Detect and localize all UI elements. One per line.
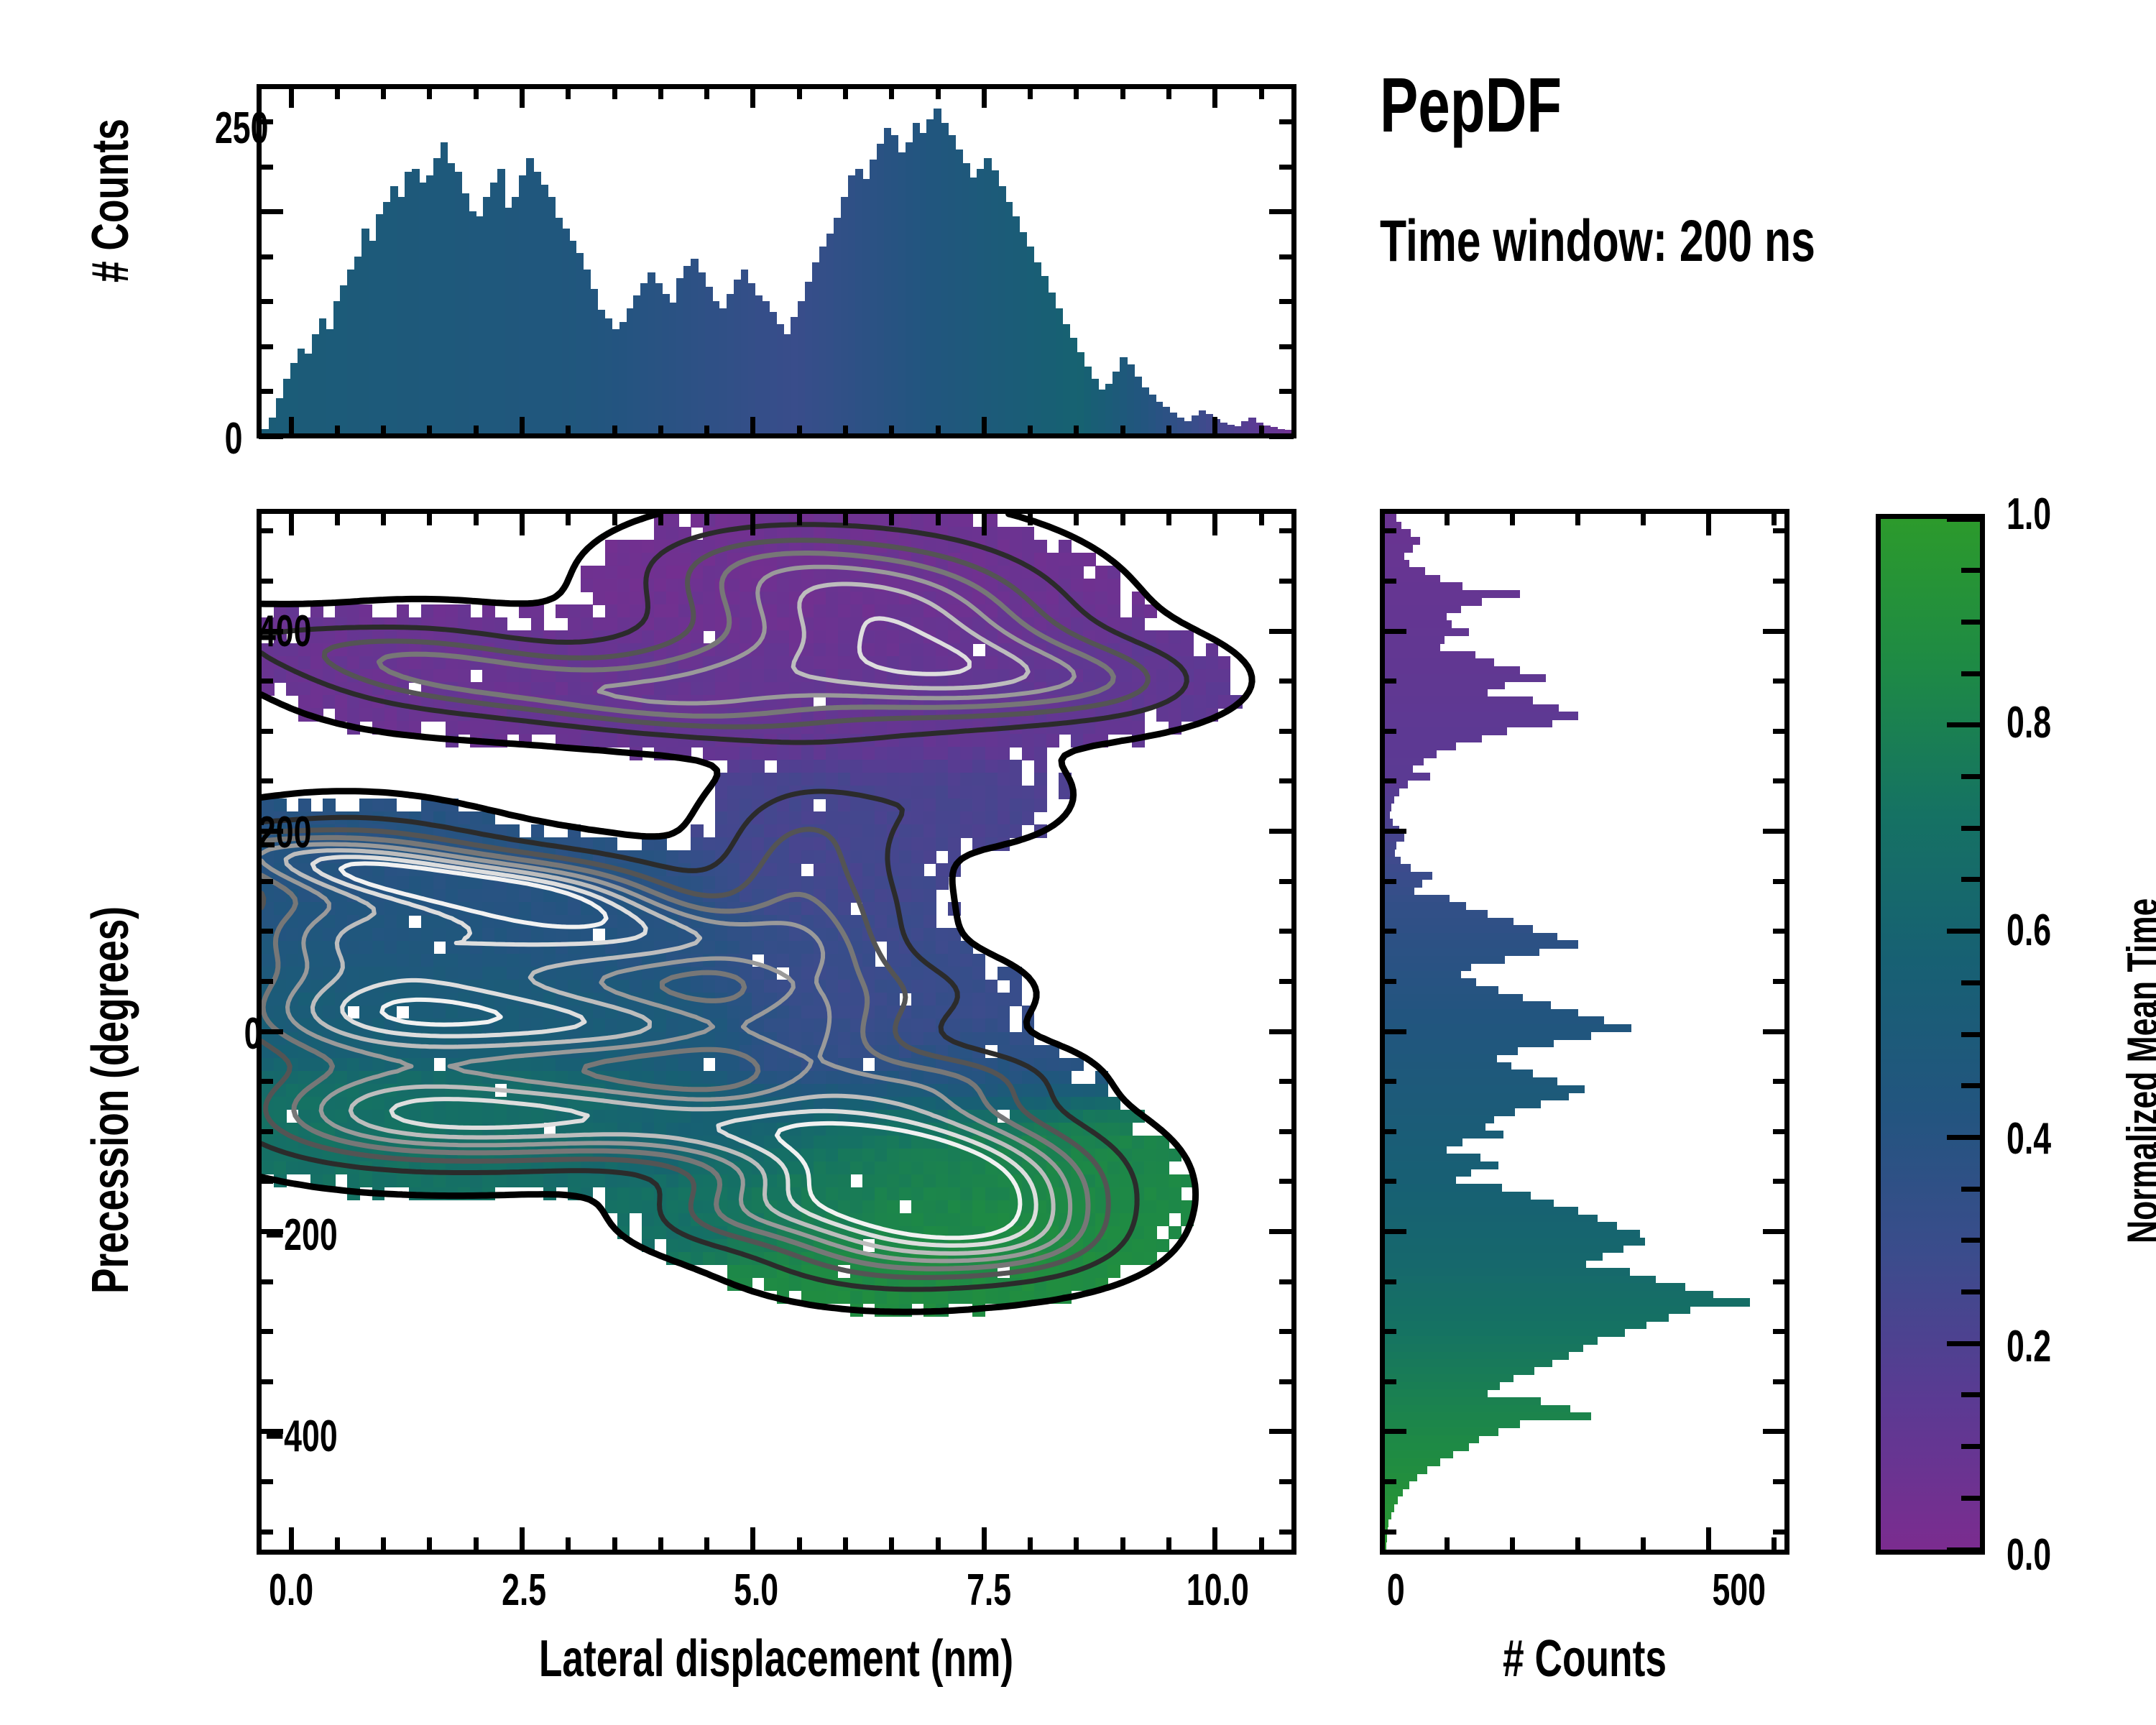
tick-mark — [658, 425, 663, 438]
tick-mark — [427, 1537, 432, 1552]
tick-mark — [1773, 879, 1787, 884]
tick-mark — [1382, 1079, 1396, 1084]
tick-mark — [1382, 729, 1396, 734]
top-histogram-bar — [305, 354, 313, 433]
tick-mark — [1279, 1379, 1294, 1384]
tick-mark — [1382, 629, 1406, 634]
colorbar-tick — [1961, 774, 1980, 779]
right-marginal-bars — [1385, 514, 1784, 1550]
right-histogram-bar — [1385, 1215, 1598, 1223]
right-histogram-bar — [1385, 1238, 1645, 1246]
tick-mark — [1212, 417, 1217, 438]
right-histogram-bar — [1385, 674, 1546, 682]
right-histogram-bar — [1385, 902, 1466, 910]
right-histogram-bar — [1385, 689, 1488, 697]
right-histogram-bar — [1385, 1405, 1570, 1413]
tick-mark — [1120, 1537, 1125, 1552]
right-histogram-bar — [1385, 857, 1401, 865]
right-xtick-label-500: 500 — [1712, 1568, 1765, 1613]
tick-mark — [750, 417, 755, 438]
colorbar-tick — [1961, 1083, 1980, 1088]
top-histogram-bar — [948, 135, 956, 433]
tick-mark — [1382, 1129, 1396, 1134]
tick-mark — [982, 1527, 987, 1552]
tick-mark — [843, 1537, 848, 1552]
top-histogram-bar — [340, 285, 348, 433]
main-xtick-label-4: 10.0 — [1187, 1568, 1249, 1613]
tick-mark — [797, 86, 802, 99]
right-histogram-bar — [1385, 658, 1494, 666]
tick-mark — [1259, 1537, 1264, 1552]
right-histogram-bar — [1385, 796, 1394, 804]
tick-mark — [381, 86, 386, 99]
right-histogram-bar — [1385, 1512, 1391, 1519]
right-histogram-bar — [1385, 1504, 1394, 1512]
right-histogram-bar — [1385, 1535, 1387, 1542]
top-histogram-bar — [319, 318, 327, 433]
tick-mark — [1259, 511, 1264, 525]
top-histogram-bar — [419, 183, 427, 433]
top-histogram-bar — [683, 266, 691, 433]
tick-mark — [1382, 1029, 1406, 1034]
right-marginal-panel — [1380, 509, 1789, 1555]
right-histogram-bar — [1385, 1443, 1469, 1451]
tick-mark — [1212, 86, 1217, 108]
right-histogram-bar — [1385, 1062, 1511, 1070]
top-histogram-bar — [819, 247, 827, 433]
right-histogram-bar — [1385, 1489, 1403, 1496]
tick-mark — [259, 119, 273, 124]
tick-mark — [474, 511, 479, 525]
top-marginal-bars — [262, 89, 1291, 433]
top-histogram-bar — [848, 175, 856, 433]
colorbar-tick-label-5: 1.0 — [2007, 492, 2051, 537]
top-histogram-bar — [526, 158, 534, 433]
right-histogram-bar — [1385, 1458, 1440, 1466]
tick-mark — [520, 1527, 525, 1552]
top-histogram-bar — [763, 301, 770, 433]
right-histogram-bar — [1385, 1161, 1498, 1169]
tick-mark — [1279, 1479, 1294, 1484]
top-histogram-bar — [934, 109, 941, 433]
top-histogram-bar — [533, 172, 541, 433]
right-histogram-bar — [1385, 1230, 1640, 1238]
top-histogram-bar — [826, 234, 834, 433]
top-histogram-bar — [1105, 384, 1113, 433]
top-histogram-bar — [734, 280, 742, 433]
colorbar-tick — [1961, 1392, 1980, 1397]
top-histogram-bar — [405, 172, 413, 433]
tick-mark — [289, 511, 294, 535]
tick-mark — [1763, 1029, 1787, 1034]
top-histogram-bar — [705, 287, 713, 433]
colorbar-tick-label-1: 0.2 — [2007, 1325, 2051, 1369]
tick-mark — [1773, 1279, 1787, 1284]
right-histogram-bar — [1385, 811, 1390, 819]
top-histogram-bar — [1148, 395, 1156, 433]
colorbar-tick — [1961, 1289, 1980, 1294]
top-histogram-bar — [1049, 293, 1056, 434]
right-histogram-bar — [1385, 834, 1404, 842]
right-histogram-bar — [1385, 1389, 1488, 1397]
top-histogram-bar — [805, 282, 813, 433]
tick-mark — [1074, 511, 1079, 525]
tick-mark — [289, 1527, 294, 1552]
top-histogram-bar — [1020, 232, 1028, 433]
tick-mark — [1259, 86, 1264, 99]
right-histogram-bar — [1385, 1009, 1578, 1017]
tick-mark — [750, 1527, 755, 1552]
tick-mark — [1773, 729, 1787, 734]
tick-mark — [982, 511, 987, 535]
top-histogram-bar — [891, 135, 899, 433]
top-histogram-bar — [691, 259, 699, 433]
colorbar-tick — [1961, 620, 1980, 625]
main-ytick-label-neg400: −400 — [265, 1414, 338, 1459]
tick-mark — [1773, 929, 1787, 934]
tick-mark — [1279, 579, 1294, 584]
top-histogram-bar — [770, 312, 778, 433]
right-histogram-bar — [1385, 750, 1437, 758]
right-histogram-bar — [1385, 864, 1411, 872]
right-histogram-bar — [1385, 1276, 1656, 1284]
top-histogram-bar — [598, 310, 606, 433]
top-histogram-bar — [347, 270, 355, 433]
tick-mark — [474, 1537, 479, 1552]
tick-mark — [843, 86, 848, 99]
tick-mark — [1269, 434, 1294, 439]
right-histogram-bar — [1385, 925, 1533, 933]
top-histogram-bar — [1263, 425, 1271, 433]
tick-mark — [381, 511, 386, 525]
tick-mark — [259, 729, 273, 734]
right-histogram-bar — [1385, 1169, 1471, 1177]
main-xlabel: Lateral displacement (nm) — [539, 1633, 1013, 1685]
right-histogram-bar — [1385, 758, 1424, 765]
tick-mark — [1120, 86, 1125, 99]
right-histogram-bar — [1385, 1192, 1531, 1200]
right-histogram-bar — [1385, 1154, 1480, 1161]
tick-mark — [427, 511, 432, 525]
tick-mark — [1028, 1537, 1033, 1552]
right-histogram-bar — [1385, 1268, 1630, 1276]
top-histogram-bar — [655, 283, 663, 433]
top-histogram-bar — [512, 197, 520, 433]
top-histogram-bar — [497, 169, 505, 433]
top-histogram-bar — [1120, 357, 1128, 433]
tick-mark — [1279, 1329, 1294, 1334]
top-histogram-bar — [383, 202, 391, 433]
right-histogram-bar — [1385, 1321, 1646, 1329]
right-histogram-bar — [1385, 567, 1425, 575]
tick-mark — [750, 86, 755, 108]
tick-mark — [1279, 119, 1294, 124]
right-histogram-bar — [1385, 1146, 1447, 1154]
tick-mark — [1279, 165, 1294, 170]
tick-mark — [1773, 778, 1787, 783]
right-histogram-bar — [1385, 956, 1505, 964]
tick-mark — [1641, 511, 1646, 525]
tick-mark — [889, 511, 894, 525]
tick-mark — [1772, 511, 1777, 525]
tick-mark — [1074, 425, 1079, 438]
tick-mark — [797, 425, 802, 438]
tick-mark — [1279, 389, 1294, 394]
top-histogram-bar — [1177, 418, 1185, 433]
right-histogram-bar — [1385, 620, 1452, 628]
tick-mark — [1382, 1329, 1396, 1334]
top-histogram-bar — [783, 334, 791, 433]
tick-mark — [1773, 1079, 1787, 1084]
top-histogram-bar — [490, 183, 498, 433]
tick-mark — [381, 425, 386, 438]
colorbar-label: Normalized Mean Time — [2122, 898, 2156, 1243]
tick-mark — [1445, 1537, 1450, 1552]
tick-mark — [1028, 425, 1033, 438]
colorbar-tick — [1961, 568, 1980, 573]
tick-mark — [1279, 1129, 1294, 1134]
colorbar-tick — [1947, 1547, 1980, 1552]
right-histogram-bar — [1385, 1260, 1586, 1268]
tick-mark — [1641, 1537, 1646, 1552]
top-histogram-bar — [1284, 430, 1291, 433]
right-histogram-bar — [1385, 1115, 1494, 1123]
tick-mark — [1382, 778, 1396, 783]
top-histogram-bar — [1184, 421, 1192, 433]
top-histogram-bar — [1063, 324, 1071, 433]
top-histogram-bar — [920, 133, 928, 433]
tick-mark — [1269, 1229, 1294, 1234]
right-histogram-bar — [1385, 552, 1404, 560]
tick-mark — [1773, 678, 1787, 684]
tick-mark — [936, 511, 941, 525]
right-histogram-bar — [1385, 1291, 1713, 1299]
top-histogram-bar — [412, 169, 420, 433]
tick-mark — [1706, 511, 1711, 535]
colorbar-tick — [1947, 1135, 1980, 1140]
figure-root: # Counts 250 0 PepDF Time window: 200 ns… — [0, 0, 2156, 1725]
top-histogram-bar — [698, 272, 706, 433]
right-histogram-bar — [1385, 887, 1414, 895]
right-histogram-bar — [1385, 727, 1507, 735]
right-histogram-bar — [1385, 1032, 1591, 1040]
top-histogram-bar — [1084, 367, 1092, 433]
top-histogram-bar — [612, 329, 620, 433]
colorbar-tick — [1961, 671, 1980, 676]
right-histogram-bar — [1385, 765, 1413, 773]
tick-mark — [1279, 1179, 1294, 1184]
colorbar-tick — [1947, 1341, 1980, 1346]
tick-mark — [1074, 1537, 1079, 1552]
right-histogram-bar — [1385, 651, 1475, 659]
top-histogram-bar — [1270, 427, 1278, 433]
top-histogram-bar — [741, 270, 749, 433]
tick-mark — [704, 1537, 709, 1552]
tick-mark — [1773, 1329, 1787, 1334]
right-histogram-bar — [1385, 918, 1514, 926]
top-histogram-bar — [1199, 410, 1207, 433]
tick-mark — [259, 1479, 273, 1484]
tick-mark — [1382, 1279, 1396, 1284]
tick-mark — [843, 511, 848, 525]
tick-mark — [259, 678, 273, 684]
tick-mark — [1269, 1029, 1294, 1034]
tick-mark — [1773, 1129, 1787, 1134]
tick-mark — [335, 1537, 340, 1552]
right-histogram-bar — [1385, 719, 1552, 727]
tick-mark — [566, 511, 571, 525]
right-histogram-bar — [1385, 1314, 1669, 1322]
tick-mark — [1773, 528, 1787, 533]
tick-mark — [259, 629, 283, 634]
tick-mark — [982, 417, 987, 438]
right-histogram-bar — [1385, 1253, 1603, 1261]
tick-mark — [1279, 299, 1294, 304]
top-histogram-bar — [1134, 377, 1142, 433]
tick-mark — [889, 86, 894, 99]
tick-mark — [1279, 979, 1294, 984]
top-histogram-bar — [884, 128, 892, 433]
right-histogram-bar — [1385, 1420, 1520, 1428]
figure-title: PepDF — [1380, 66, 1562, 144]
tick-mark — [1382, 1229, 1406, 1234]
top-histogram-bar — [476, 216, 484, 433]
top-histogram-bar — [669, 303, 677, 433]
top-histogram-bar — [505, 208, 512, 433]
tick-mark — [566, 425, 571, 438]
tick-mark — [936, 425, 941, 438]
top-histogram-bar — [791, 317, 798, 433]
right-histogram-bar — [1385, 712, 1578, 719]
right-histogram-bar — [1385, 742, 1456, 750]
tick-mark — [381, 1537, 386, 1552]
tick-mark — [1510, 511, 1515, 525]
tick-mark — [259, 1029, 283, 1034]
top-histogram-bar — [834, 218, 842, 433]
right-histogram-bar — [1385, 704, 1559, 712]
right-histogram-bar — [1385, 1016, 1604, 1024]
tick-mark — [612, 511, 617, 525]
tick-mark — [259, 579, 273, 584]
tick-mark — [797, 1537, 802, 1552]
tick-mark — [843, 425, 848, 438]
tick-mark — [259, 165, 273, 170]
main-ytick-label-0: 0 — [244, 1012, 262, 1057]
top-histogram-bar — [676, 278, 684, 433]
right-histogram-bar — [1385, 681, 1505, 689]
tick-mark — [427, 425, 432, 438]
main-ytick-label-neg200: −200 — [265, 1213, 338, 1258]
top-histogram-bar — [361, 229, 369, 433]
colorbar-tick — [1961, 1032, 1980, 1037]
tick-mark — [1074, 86, 1079, 99]
tick-mark — [704, 86, 709, 99]
right-histogram-bar — [1385, 963, 1471, 971]
tick-mark — [1382, 1429, 1406, 1434]
top-histogram-bar — [748, 283, 756, 433]
right-histogram-bar — [1385, 1200, 1554, 1207]
tick-mark — [1510, 1537, 1515, 1552]
tick-mark — [658, 1537, 663, 1552]
tick-mark — [1166, 511, 1171, 525]
top-histogram-bar — [298, 349, 305, 433]
colorbar-tick — [1961, 1444, 1980, 1449]
tick-mark — [259, 528, 273, 533]
right-histogram-bar — [1385, 1344, 1583, 1352]
top-histogram-bar — [448, 163, 456, 433]
tick-mark — [1382, 1179, 1396, 1184]
colorbar-tick-label-4: 0.8 — [2007, 701, 2051, 745]
right-histogram-bar — [1385, 994, 1523, 1002]
top-histogram-bar — [870, 160, 877, 433]
right-histogram-bar — [1385, 910, 1488, 918]
top-histogram-bar — [977, 169, 985, 433]
right-histogram-bar — [1385, 978, 1476, 986]
tick-mark — [1279, 879, 1294, 884]
tick-mark — [1279, 528, 1294, 533]
tick-mark — [474, 425, 479, 438]
top-histogram-bar — [1112, 372, 1120, 433]
right-histogram-bar — [1385, 613, 1447, 621]
tick-mark — [1575, 1537, 1580, 1552]
top-histogram-bar — [862, 179, 870, 433]
right-panel-xlabel: # Counts — [1503, 1633, 1667, 1685]
tick-mark — [1445, 511, 1450, 525]
top-histogram-bar — [1277, 429, 1285, 433]
right-histogram-bar — [1385, 514, 1396, 522]
right-histogram-bar — [1385, 1435, 1479, 1443]
top-histogram-bar — [941, 123, 949, 433]
tick-mark — [1773, 579, 1787, 584]
colorbar-tick — [1947, 517, 1980, 522]
right-histogram-bar — [1385, 1054, 1497, 1062]
top-histogram-bar — [1005, 202, 1013, 433]
tick-mark — [750, 511, 755, 535]
tick-mark — [612, 86, 617, 99]
tick-mark — [1382, 1529, 1396, 1535]
colorbar-tick-label-0: 0.0 — [2007, 1533, 2051, 1578]
top-histogram-bar — [555, 218, 563, 433]
tick-mark — [1212, 1527, 1217, 1552]
tick-mark — [1575, 511, 1580, 525]
top-histogram-bar — [662, 294, 670, 433]
right-histogram-bar — [1385, 1397, 1541, 1405]
tick-mark — [259, 254, 273, 259]
top-histogram-bar — [562, 229, 570, 433]
main-xtick-label-2: 5.0 — [734, 1568, 778, 1613]
tick-mark — [259, 1079, 273, 1084]
right-histogram-bar — [1385, 544, 1413, 552]
top-histogram-bar — [1056, 308, 1064, 433]
right-histogram-bar — [1385, 1283, 1685, 1291]
top-histogram-bar — [984, 158, 992, 433]
top-histogram-bar — [633, 295, 641, 433]
tick-mark — [335, 86, 340, 99]
top-histogram-bar — [540, 185, 548, 433]
tick-mark — [335, 511, 340, 525]
tick-mark — [259, 389, 273, 394]
tick-mark — [259, 344, 273, 349]
tick-mark — [259, 929, 273, 934]
tick-mark — [259, 1329, 273, 1334]
top-histogram-bar — [269, 418, 277, 433]
top-histogram-bar — [441, 142, 448, 433]
tick-mark — [259, 299, 273, 304]
top-histogram-bar — [276, 398, 284, 433]
right-histogram-bar — [1385, 1382, 1500, 1390]
tick-mark — [520, 417, 525, 438]
top-histogram-bar — [1220, 423, 1227, 433]
